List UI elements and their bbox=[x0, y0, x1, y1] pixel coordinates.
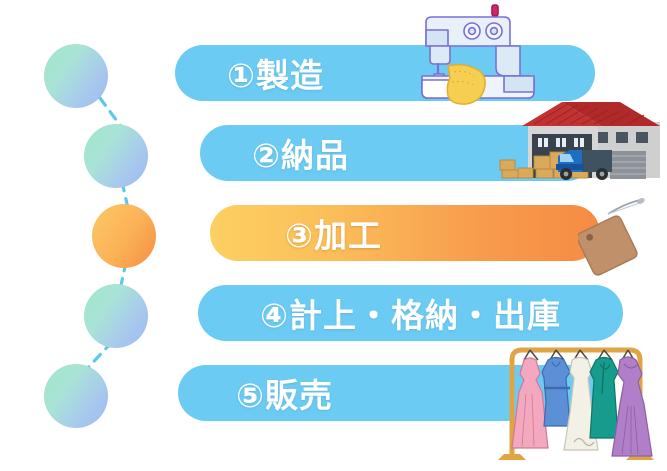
step-marker-4[interactable] bbox=[84, 284, 148, 348]
step-bar-3[interactable]: ③加工 bbox=[210, 205, 600, 261]
step-marker-5[interactable] bbox=[44, 364, 108, 428]
warehouse-truck-illustration bbox=[498, 96, 664, 188]
step-label-4: ④計上・格納・出庫 bbox=[260, 289, 561, 337]
price-tag-illustration bbox=[578, 198, 664, 280]
sewing-machine-illustration bbox=[408, 2, 558, 106]
step-marker-3[interactable] bbox=[92, 204, 156, 268]
step-label-2: ②納品 bbox=[252, 129, 349, 177]
step-marker-2[interactable] bbox=[84, 124, 148, 188]
clothing-rack-illustration bbox=[486, 338, 666, 470]
step-label-3: ③加工 bbox=[285, 209, 382, 257]
step-marker-1[interactable] bbox=[44, 44, 108, 108]
flow-diagram: ①製造 ②納品 ③加工 ④計上・格納・出庫 ⑤販売 bbox=[0, 0, 667, 471]
step-label-5: ⑤販売 bbox=[236, 369, 333, 417]
step-bar-4[interactable]: ④計上・格納・出庫 bbox=[198, 285, 623, 341]
step-label-1: ①製造 bbox=[227, 49, 324, 97]
